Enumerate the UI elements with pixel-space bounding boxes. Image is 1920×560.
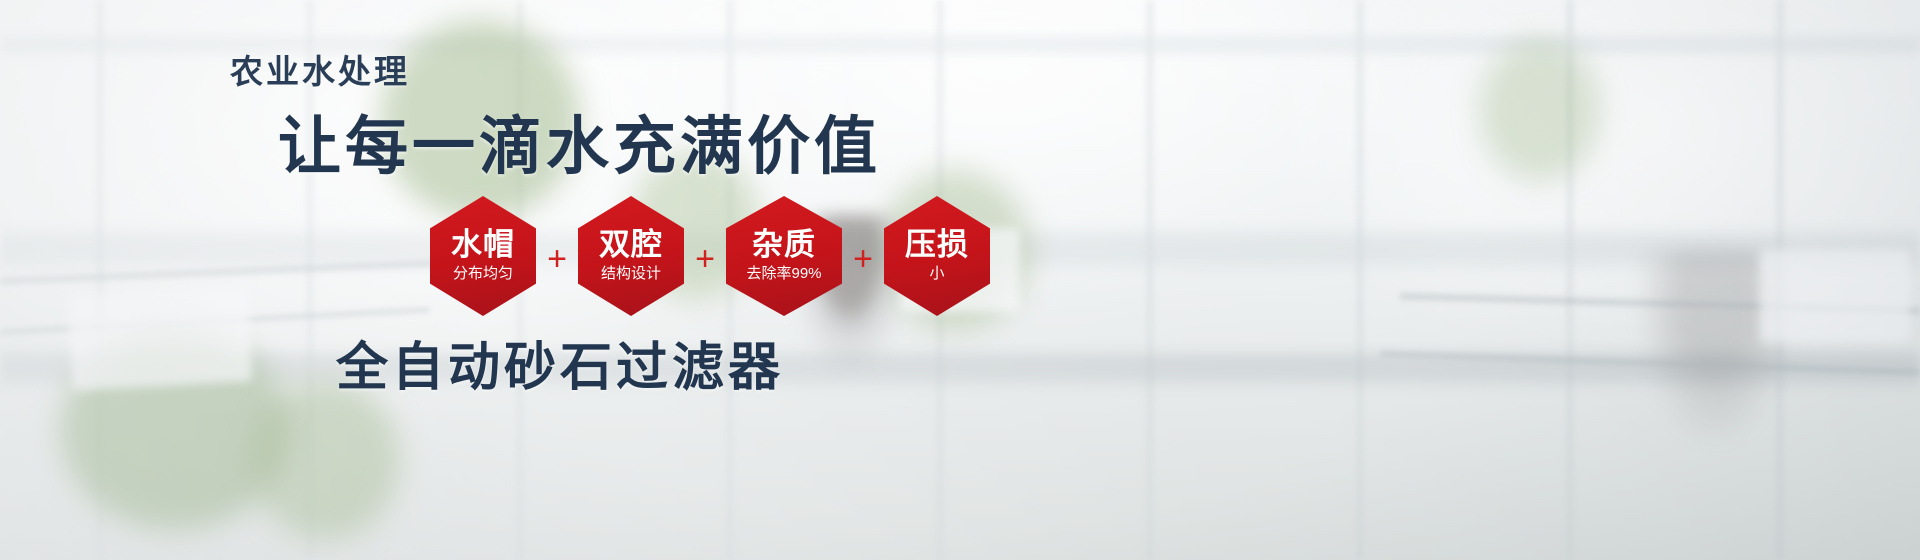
badge-title: 水帽 [451,229,515,262]
plus-separator-icon: + [684,236,726,276]
plus-separator-icon: + [842,236,884,276]
product-name-title: 全自动砂石过滤器 [336,325,784,400]
badge-title: 双腔 [599,229,663,262]
badge-title: 杂质 [752,229,816,262]
copy-block: 农业水处理 让每一滴水充满价值 水帽 分布均匀 + 双腔 结构设计 + 杂质 去… [0,0,1100,560]
plus-separator-icon: + [536,236,578,276]
feature-badge-water-cap[interactable]: 水帽 分布均匀 [430,196,536,316]
badge-subtitle: 结构设计 [601,266,661,283]
page-title: 让每一滴水充满价值 [278,96,881,187]
product-photo-sand-filter [940,0,1920,560]
badge-subtitle: 分布均匀 [453,266,513,283]
feature-badge-impurity-removal[interactable]: 杂质 去除率99% [726,196,842,316]
eyebrow-text: 农业水处理 [230,45,410,93]
feature-badge-dual-chamber[interactable]: 双腔 结构设计 [578,196,684,316]
feature-badge-row: 水帽 分布均匀 + 双腔 结构设计 + 杂质 去除率99% + 压损 小 [430,196,990,316]
badge-subtitle: 去除率99% [746,266,821,283]
promotional-banner: 农业水处理 让每一滴水充满价值 水帽 分布均匀 + 双腔 结构设计 + 杂质 去… [0,0,1920,560]
